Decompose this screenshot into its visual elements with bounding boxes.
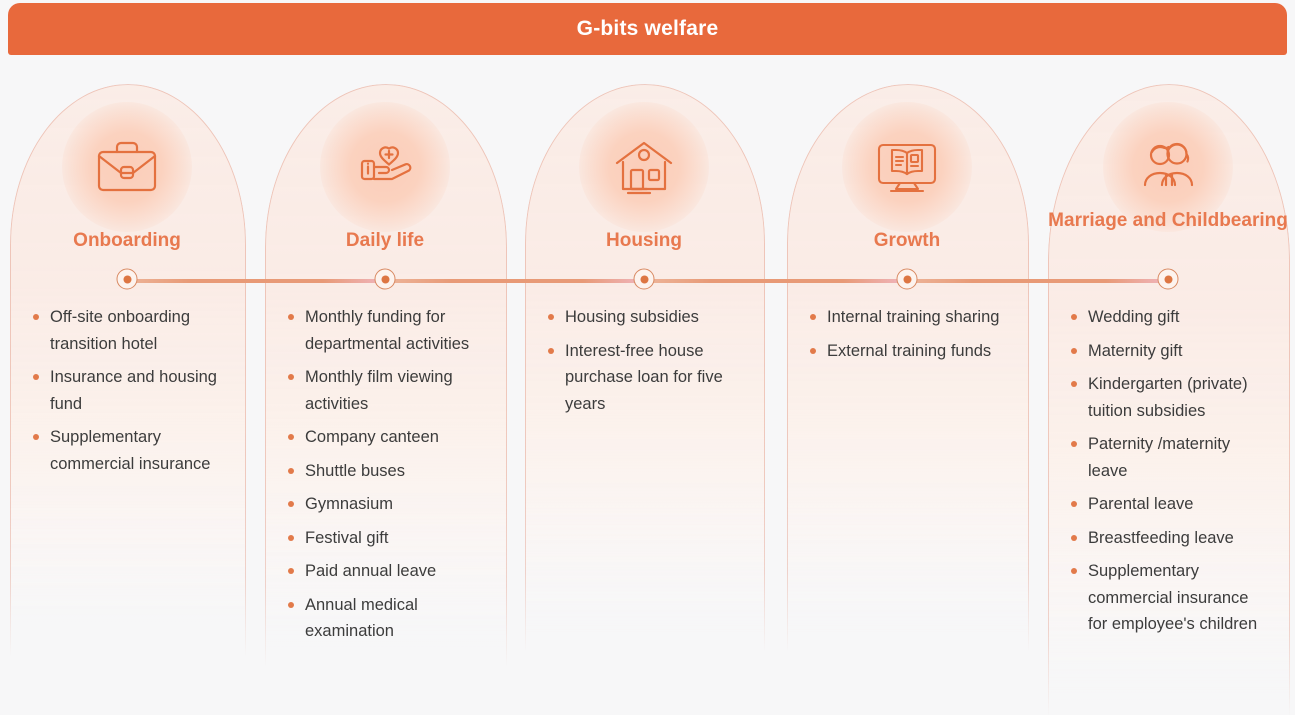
benefit-list: Monthly funding for departmental activit… (265, 304, 505, 652)
benefit-list: Wedding gift Maternity gift Kindergarten… (1048, 304, 1288, 645)
benefit-list: Housing subsidies Interest-free house pu… (525, 304, 763, 424)
house-icon (601, 124, 687, 210)
list-item: Gymnasium (285, 491, 489, 518)
timeline-node[interactable] (375, 269, 396, 290)
list-item: Annual medical examination (285, 592, 489, 645)
column-housing[interactable]: Housing Housing subsidies Interest-free … (525, 58, 763, 633)
list-item: Monthly film viewing activities (285, 364, 489, 417)
monitor-book-icon (864, 124, 950, 210)
list-item: Off-site onboarding transition hotel (30, 304, 228, 357)
header-bar: G-bits welfare (8, 3, 1287, 55)
list-item: Paid annual leave (285, 558, 489, 585)
column-title: Growth (787, 230, 1027, 252)
infographic-canvas: G-bits welfare Onboarding (0, 0, 1295, 715)
list-item: External training funds (807, 338, 1011, 365)
list-item: Parental leave (1068, 491, 1272, 518)
timeline-node[interactable] (634, 269, 655, 290)
list-item: Housing subsidies (545, 304, 747, 331)
timeline-node[interactable] (897, 269, 918, 290)
timeline-node[interactable] (117, 269, 138, 290)
list-item: Supplementary commercial insurance for e… (1068, 558, 1272, 638)
page-title: G-bits welfare (577, 17, 719, 41)
list-item: Internal training sharing (807, 304, 1011, 331)
column-marriage-and-childbearing[interactable]: Marriage and Childbearing Wedding gift M… (1048, 58, 1288, 698)
benefit-list: Internal training sharing External train… (787, 304, 1027, 371)
heart-in-hand-icon (342, 124, 428, 210)
briefcase-icon (84, 124, 170, 210)
list-item: Festival gift (285, 525, 489, 552)
list-item: Insurance and housing fund (30, 364, 228, 417)
list-item: Company canteen (285, 424, 489, 451)
list-item: Monthly funding for departmental activit… (285, 304, 489, 357)
list-item: Kindergarten (private) tuition subsidies (1068, 371, 1272, 424)
column-onboarding[interactable]: Onboarding Off-site onboarding transitio… (10, 58, 244, 638)
couple-icon (1125, 124, 1211, 210)
timeline-node[interactable] (1158, 269, 1179, 290)
column-daily-life[interactable]: Daily life Monthly funding for departmen… (265, 58, 505, 648)
list-item: Maternity gift (1068, 338, 1272, 365)
column-title: Housing (525, 230, 763, 252)
list-item: Interest-free house purchase loan for fi… (545, 338, 747, 418)
list-item: Shuttle buses (285, 458, 489, 485)
column-title: Onboarding (10, 230, 244, 252)
list-item: Breastfeeding leave (1068, 525, 1272, 552)
list-item: Wedding gift (1068, 304, 1272, 331)
column-title: Marriage and Childbearing (1048, 210, 1288, 232)
columns-container: Onboarding Off-site onboarding transitio… (0, 58, 1295, 715)
benefit-list: Off-site onboarding transition hotel Ins… (10, 304, 244, 484)
column-title: Daily life (265, 230, 505, 252)
list-item: Supplementary commercial insurance (30, 424, 228, 477)
list-item: Paternity /maternity leave (1068, 431, 1272, 484)
column-growth[interactable]: Growth Internal training sharing Externa… (787, 58, 1027, 633)
